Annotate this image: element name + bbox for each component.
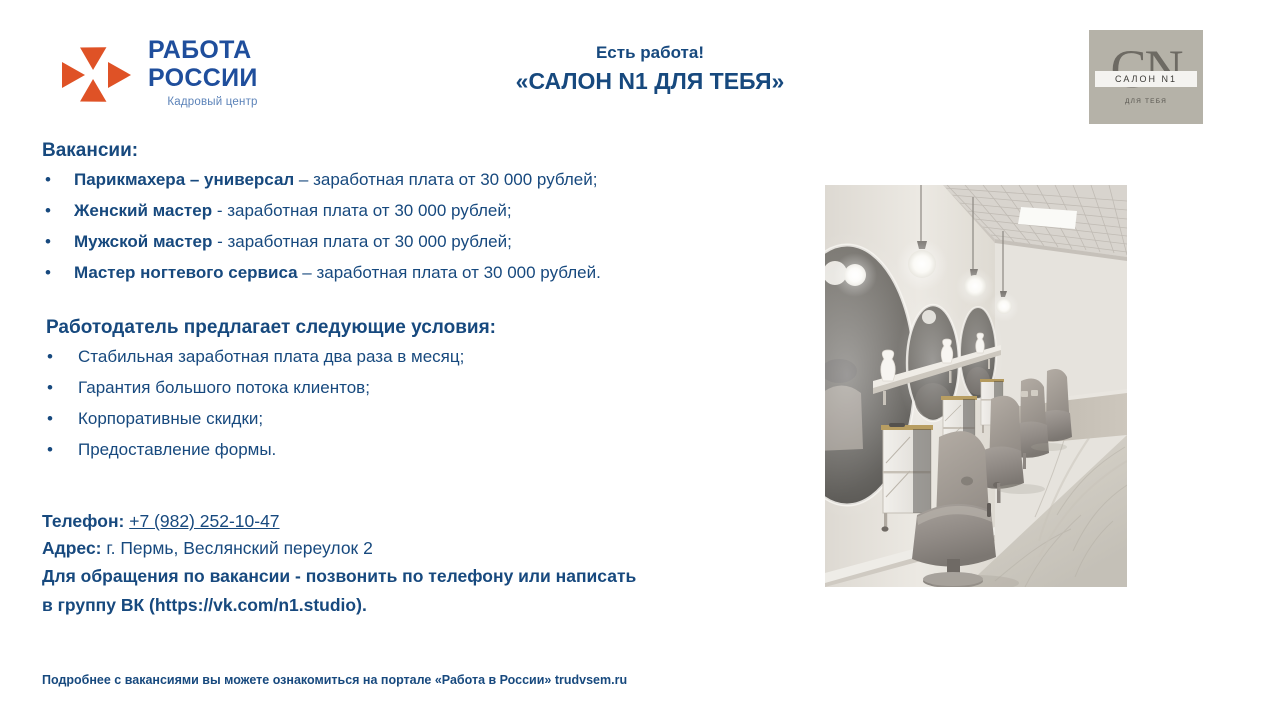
conditions-list: Стабильная заработная плата два раза в м… <box>42 341 742 465</box>
vacancies-heading: Вакансии: <box>42 138 782 164</box>
rabota-rossii-pinwheel-icon <box>62 38 134 110</box>
list-item: Мастер ногтевого сервиса – заработная пл… <box>42 257 782 288</box>
vacancy-role: Женский мастер <box>74 201 212 220</box>
list-item: Предоставление формы. <box>42 434 742 465</box>
phone-label: Телефон: <box>42 511 124 531</box>
conditions-section: Работодатель предлагает следующие услови… <box>42 315 742 465</box>
header-kicker: Есть работа! <box>420 42 880 64</box>
phone-line: Телефон: +7 (982) 252-10-47 <box>42 508 782 535</box>
salon-logo: CN САЛОН N1 ДЛЯ ТЕБЯ <box>1089 30 1203 124</box>
triangle-left-icon <box>62 62 85 88</box>
brand-name-line1: РАБОТА <box>148 36 258 64</box>
page-title: «САЛОН N1 ДЛЯ ТЕБЯ» <box>420 66 880 96</box>
list-item: Парикмахера – универсал – заработная пла… <box>42 164 782 195</box>
phone-link[interactable]: +7 (982) 252-10-47 <box>129 511 279 531</box>
list-item: Женский мастер - заработная плата от 30 … <box>42 195 782 226</box>
header-title-block: Есть работа! «САЛОН N1 ДЛЯ ТЕБЯ» <box>420 42 880 96</box>
contacts-section: Телефон: +7 (982) 252-10-47 Адрес: г. Пе… <box>42 508 782 620</box>
list-item: Мужской мастер - заработная плата от 30 … <box>42 226 782 257</box>
vacancy-role: Парикмахера – универсал <box>74 170 294 189</box>
salon-interior-photo <box>825 185 1127 587</box>
conditions-heading: Работодатель предлагает следующие услови… <box>42 315 742 341</box>
salon-monogram: CN <box>1089 40 1203 98</box>
salon-logo-band: САЛОН N1 <box>1095 71 1197 87</box>
list-item: Гарантия большого потока клиентов; <box>42 372 742 403</box>
vacancy-role: Мужской мастер <box>74 232 212 251</box>
salon-sub-text: ДЛЯ ТЕБЯ <box>1089 98 1203 105</box>
address-line: Адрес: г. Пермь, Веслянский переулок 2 <box>42 535 782 562</box>
cta-line-1: Для обращения по вакансии - позвонить по… <box>42 562 782 591</box>
footer-note: Подробнее с вакансиями вы можете ознаком… <box>42 673 627 687</box>
address-label: Адрес: <box>42 538 102 558</box>
vacancy-role: Мастер ногтевого сервиса <box>74 263 298 282</box>
rabota-rossii-logo: РАБОТА РОССИИ Кадровый центр <box>62 36 307 112</box>
address-value: г. Пермь, Веслянский переулок 2 <box>102 538 373 558</box>
vacancies-list: Парикмахера – универсал – заработная пла… <box>42 164 782 288</box>
slide-canvas: РАБОТА РОССИИ Кадровый центр Есть работа… <box>0 0 1280 720</box>
triangle-right-icon <box>108 62 131 88</box>
vacancies-section: Вакансии: Парикмахера – универсал – зара… <box>42 138 782 288</box>
vacancy-detail: - заработная плата от 30 000 рублей; <box>212 201 511 220</box>
salon-photo-illustration <box>825 185 1127 587</box>
list-item: Стабильная заработная плата два раза в м… <box>42 341 742 372</box>
brand-wordmark: РАБОТА РОССИИ Кадровый центр <box>148 36 258 109</box>
brand-name-line2: РОССИИ <box>148 64 258 92</box>
cta-line-2: в группу ВК (https://vk.com/n1.studio). <box>42 591 782 620</box>
list-item: Корпоративные скидки; <box>42 403 742 434</box>
vacancy-detail: – заработная плата от 30 000 рублей. <box>298 263 601 282</box>
vacancy-detail: – заработная плата от 30 000 рублей; <box>294 170 597 189</box>
salon-band-text: САЛОН N1 <box>1115 74 1177 84</box>
vacancy-detail: - заработная плата от 30 000 рублей; <box>212 232 511 251</box>
brand-tagline: Кадровый центр <box>148 95 258 109</box>
